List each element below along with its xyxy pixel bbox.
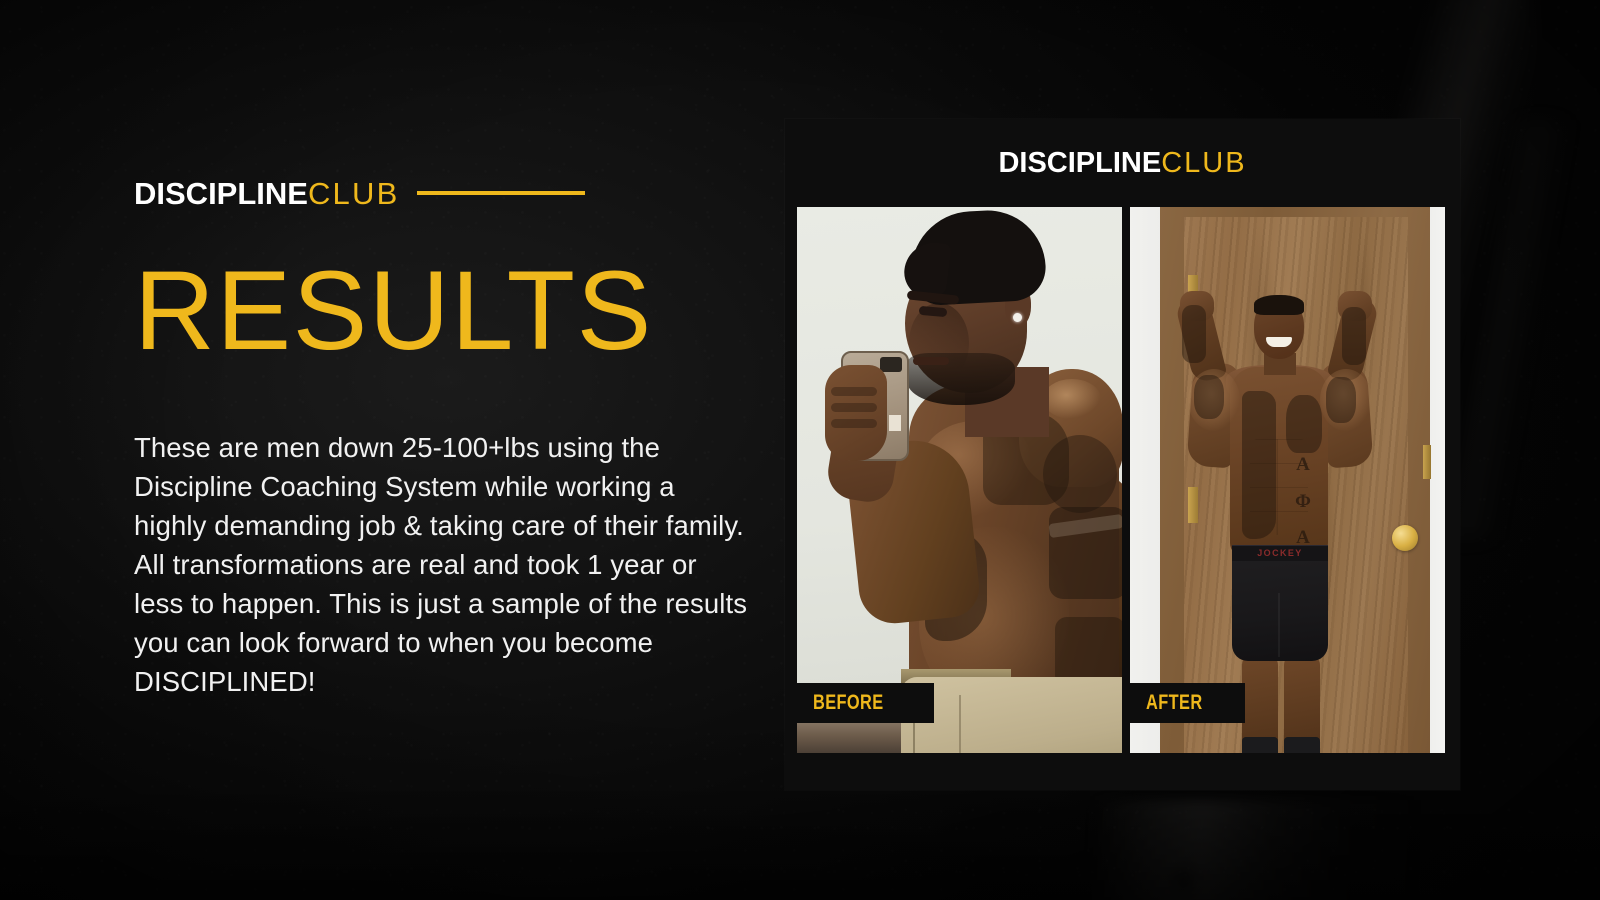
results-card: DISCIPLINECLUB [785,119,1460,790]
before-hand [825,365,887,461]
before-tattoo [1043,435,1117,513]
brand-gold-rule [417,191,585,195]
left-content-column: DISCIPLINECLUB RESULTS These are men dow… [134,176,754,701]
after-tattoo [1194,375,1224,419]
after-door-strike-plate [1423,445,1431,479]
after-tattoo [1326,377,1356,423]
after-greek-letter-tattoo: A Φ A [1290,455,1316,547]
after-smile [1266,337,1292,347]
greek-letter: A [1296,455,1310,474]
after-tattoo [1242,391,1276,539]
card-header: DISCIPLINECLUB [785,119,1460,207]
after-badge-label: AFTER [1146,691,1203,715]
before-lips [913,357,949,365]
after-right-sock [1284,737,1320,753]
phone-label [889,415,901,431]
before-shoulder-highlight [1043,379,1101,419]
brand-word-discipline: DISCIPLINE [134,176,308,211]
after-tattoo [1182,305,1206,363]
slide-canvas: DISCIPLINECLUB RESULTS These are men dow… [0,0,1600,900]
after-tattoo [1342,307,1366,365]
after-waistband-brand: JOCKEY [1232,548,1328,558]
after-hairline [1254,295,1304,315]
before-pants [901,677,1122,753]
before-photo[interactable]: BEFORE [797,207,1122,753]
card-brand-word-discipline: DISCIPLINE [998,147,1161,179]
brand-word-club: CLUB [308,176,400,211]
brand-lockup: DISCIPLINECLUB [134,176,754,210]
before-badge-label: BEFORE [813,691,884,715]
after-left-sock [1242,737,1278,753]
greek-letter: Φ [1295,492,1311,511]
before-after-photo-pair: BEFORE [797,207,1445,753]
after-door-knob [1392,525,1418,551]
body-paragraph: These are men down 25-100+lbs using the … [134,428,749,701]
after-tattoo [1286,395,1322,453]
brand-wordmark: DISCIPLINECLUB [134,178,399,209]
before-earring [1013,313,1022,322]
after-shorts-seam [1278,593,1280,657]
after-waistband: JOCKEY [1232,545,1328,561]
card-brand-wordmark: DISCIPLINECLUB [998,149,1246,178]
before-badge: BEFORE [797,683,934,723]
after-badge: AFTER [1130,683,1245,723]
after-boxer-briefs: JOCKEY [1232,545,1328,661]
phone-camera-icon [880,357,902,372]
after-photo[interactable]: A Φ A JOCKEY [1130,207,1445,753]
page-title: RESULTS [134,258,754,364]
card-brand-word-club: CLUB [1161,147,1246,179]
background-bottom-fade [0,780,1600,900]
after-door-hinge [1188,487,1198,523]
